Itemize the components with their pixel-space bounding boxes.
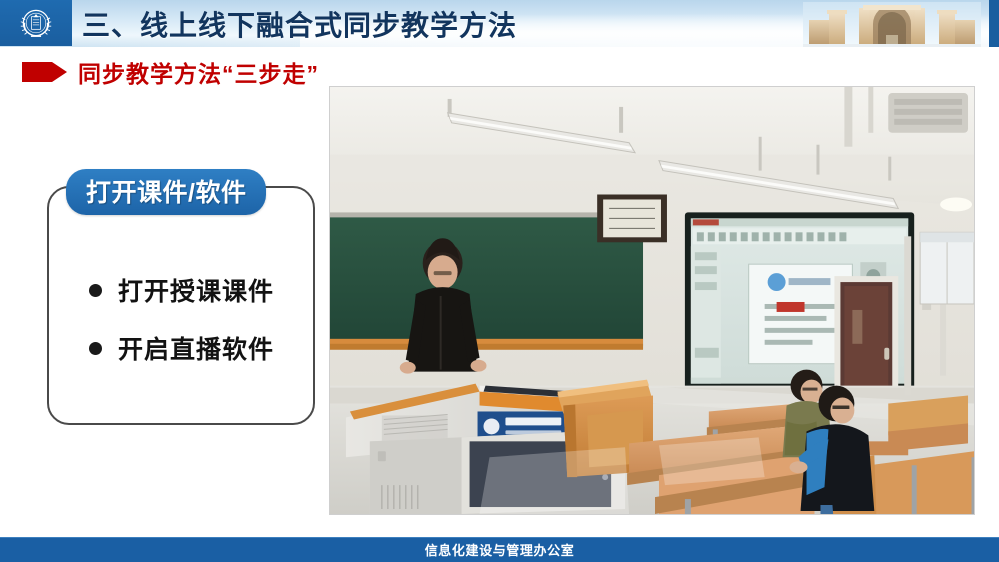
footer-top-divider (0, 537, 999, 538)
step-card-list: 打开授课课件 开启直播软件 (47, 272, 315, 366)
slide-root: 三、线上线下融合式同步教学方法 同步教学方法“三步走” 打开课件/软件 打开授课… (0, 0, 999, 562)
step-card-badge: 打开课件/软件 (66, 169, 266, 215)
list-item-label: 打开授课课件 (118, 272, 274, 308)
list-item-label: 开启直播软件 (118, 330, 274, 366)
bullet-dot-icon (89, 284, 102, 297)
list-item: 开启直播软件 (89, 330, 315, 366)
subtitle-row: 同步教学方法“三步走” (22, 55, 319, 89)
university-emblem-icon (17, 4, 55, 42)
subtitle-text: 同步教学方法“三步走” (78, 55, 319, 89)
campus-gate-photo (803, 2, 981, 47)
university-logo-block (0, 0, 72, 46)
red-arrow-pennant-icon (22, 61, 68, 83)
slide-header: 三、线上线下融合式同步教学方法 (0, 0, 999, 47)
footer-label: 信息化建设与管理办公室 (425, 540, 575, 559)
classroom-live-teaching-photo (329, 86, 975, 515)
slide-footer: 信息化建设与管理办公室 (0, 537, 999, 562)
footer-spacer (0, 515, 999, 537)
bullet-dot-icon (89, 342, 102, 355)
page-title: 三、线上线下融合式同步教学方法 (82, 1, 517, 46)
header-right-accent-bar (989, 0, 999, 47)
list-item: 打开授课课件 (89, 272, 315, 308)
